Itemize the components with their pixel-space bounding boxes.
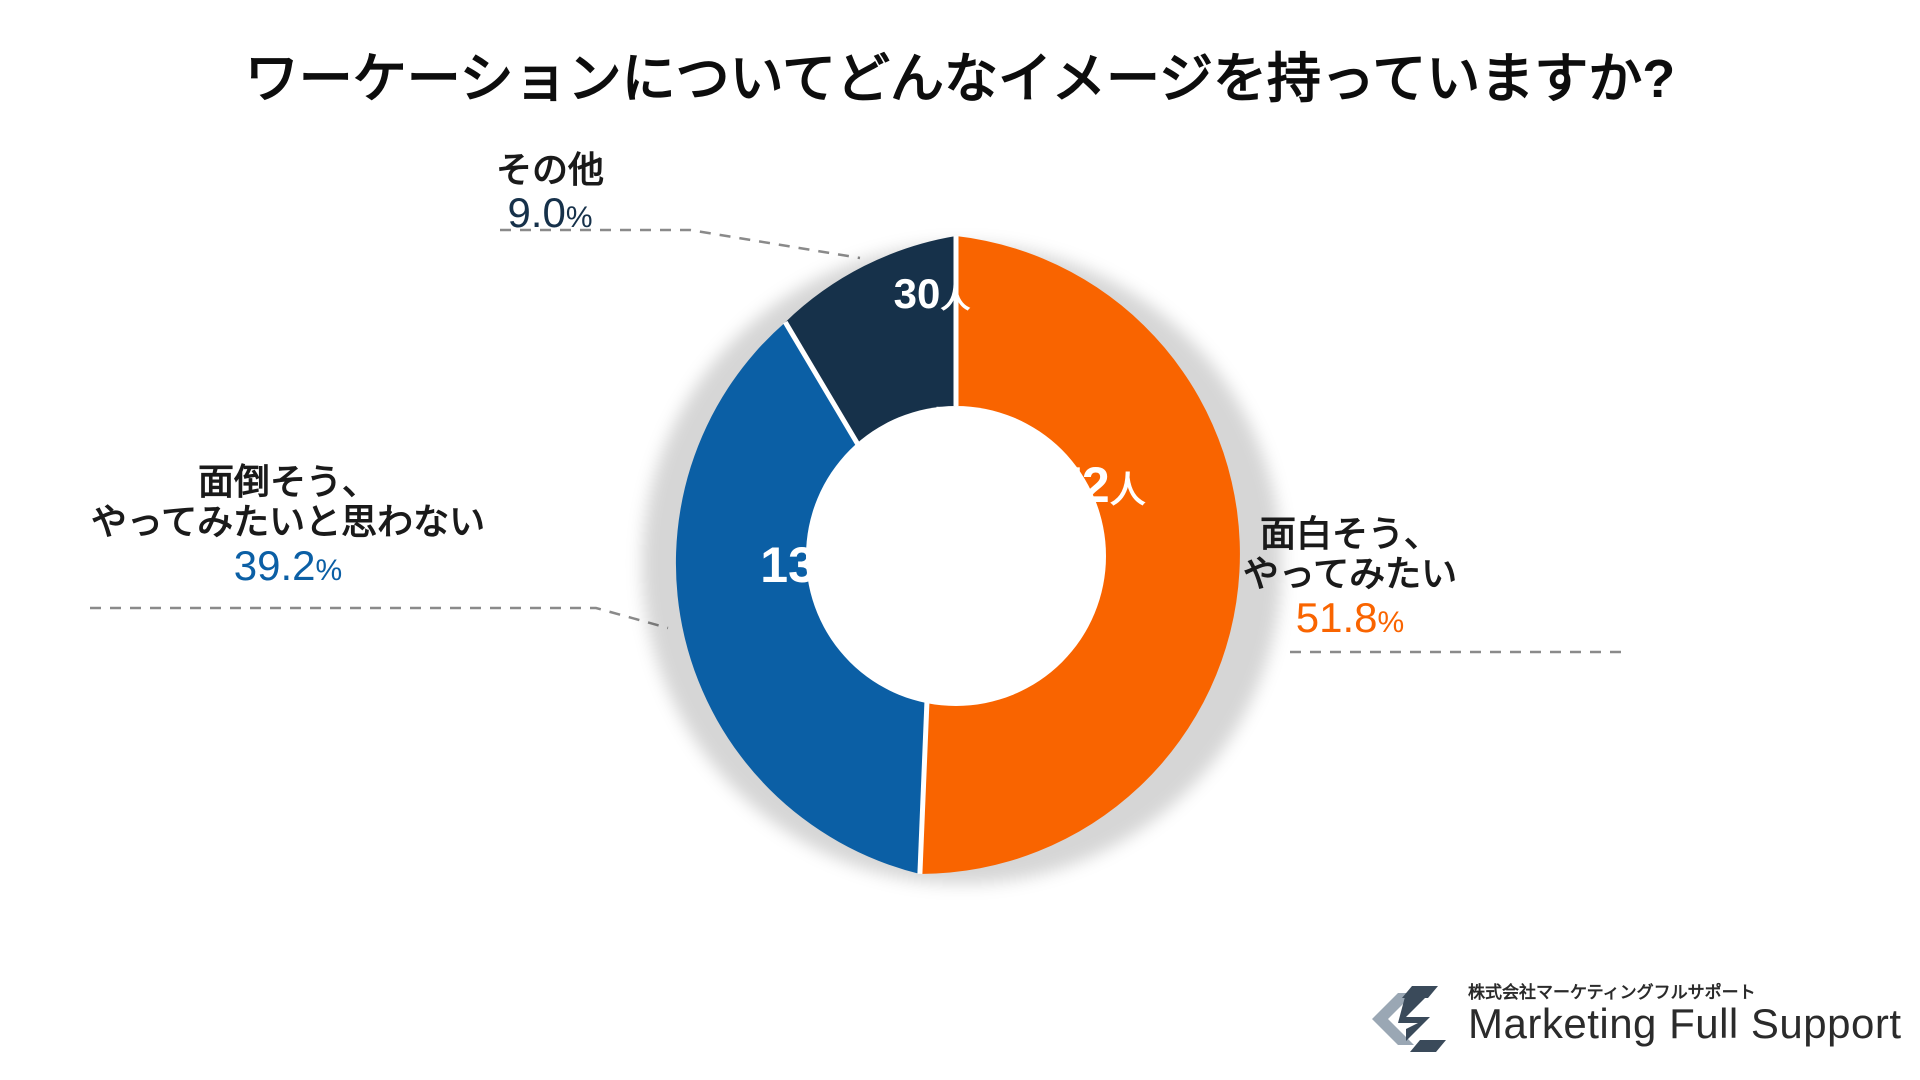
callout-left-percent-symbol: % [316,554,343,587]
callout-other-percent: 9.0% [420,190,680,236]
callout-other: その他 9.0% [420,150,680,237]
slice-value-navy-unit: 人 [940,282,970,315]
slice-value-blue-unit: 人 [844,549,880,590]
leader-line-left [90,608,668,628]
callout-left-percent: 39.2% [78,543,498,589]
callout-other-percent-value: 9.0 [507,189,565,236]
slice-value-blue: 130人 [720,536,920,594]
callout-left: 面倒そう、 やってみたいと思わない 39.2% [78,462,498,589]
slice-value-orange: 172人 [986,456,1186,514]
brand-logo: 株式会社マーケティングフルサポート Marketing Full Support [1368,976,1888,1062]
callout-right-label-line2: やってみたい [1140,554,1560,594]
callout-left-label-line2: やってみたいと思わない [78,502,498,542]
logo-mark-icon [1368,982,1454,1056]
slice-value-navy-number: 30 [894,270,941,317]
slice-value-navy: 30人 [852,270,1012,318]
callout-other-percent-symbol: % [566,201,593,234]
slice-value-orange-unit: 人 [1110,469,1146,510]
page-title: ワーケーションについてどんなイメージを持っていますか? [0,34,1920,113]
callout-other-label: その他 [420,150,680,190]
callout-left-label-line1: 面倒そう、 [78,462,498,502]
callout-right: 面白そう、 やってみたい 51.8% [1140,514,1560,641]
callout-right-percent: 51.8% [1140,595,1560,641]
slice-value-blue-number: 130 [760,537,843,593]
chart-canvas: ワーケーションについてどんなイメージを持っていますか? 172人 [0,0,1920,1080]
callout-right-label-line1: 面白そう、 [1140,514,1560,554]
callout-right-percent-symbol: % [1378,606,1405,639]
logo-company-en: Marketing Full Support [1468,1000,1902,1048]
slice-value-orange-number: 172 [1026,457,1109,513]
callout-right-percent-value: 51.8 [1296,594,1378,641]
callout-left-percent-value: 39.2 [234,542,316,589]
